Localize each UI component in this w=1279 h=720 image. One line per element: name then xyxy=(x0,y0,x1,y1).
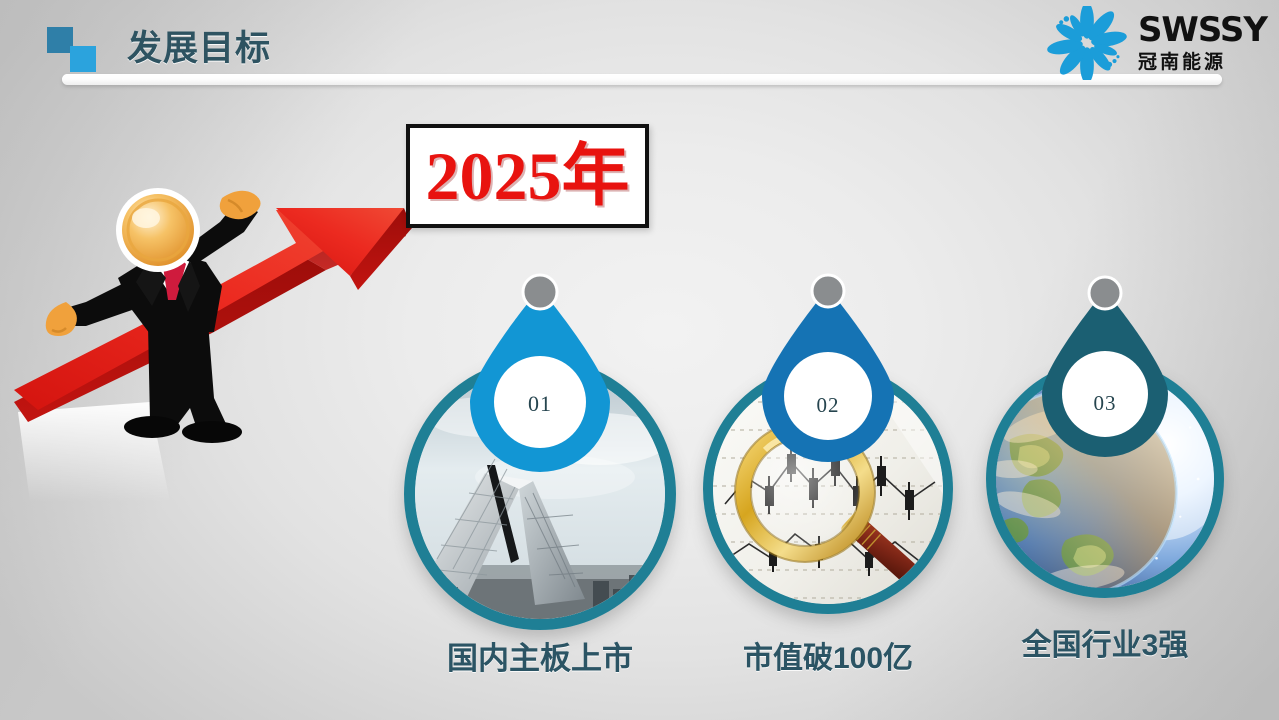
year-badge: 2025年 xyxy=(406,124,649,228)
goal-pin-02 xyxy=(746,276,910,456)
slide-canvas: 发展目标 xyxy=(0,0,1279,720)
goal-caption-02: 市值破100亿 xyxy=(743,633,913,677)
brand-logo: SWSSY 冠南能源 xyxy=(1044,4,1267,80)
goal-number-03: 03 xyxy=(1061,384,1149,422)
goal-caption-03: 全国行业3强 xyxy=(1022,620,1189,664)
goal-item-02[interactable]: 02 市值破100亿 xyxy=(678,266,978,626)
goal-caption-01: 国内主板上市 xyxy=(447,633,633,678)
flower-petals-icon xyxy=(1044,6,1130,78)
goals-group: 01 国内主板上市 xyxy=(0,0,1279,720)
slide-header: 发展目标 xyxy=(0,0,1279,95)
goal-item-03[interactable]: 03 全国行业3强 xyxy=(955,268,1255,628)
goal-pin-01 xyxy=(452,276,628,466)
brand-name-latin: SWSSY xyxy=(1138,13,1267,47)
brand-wordmark: SWSSY 冠南能源 xyxy=(1138,13,1267,72)
page-title: 发展目标 xyxy=(127,20,271,71)
goal-pin-03 xyxy=(1026,278,1184,450)
square-icon-bottom xyxy=(70,46,96,72)
year-badge-text: 2025年 xyxy=(425,142,629,210)
goal-number-02: 02 xyxy=(783,386,873,424)
goal-number-01: 01 xyxy=(494,384,586,424)
goal-item-01[interactable]: 01 国内主板上市 xyxy=(390,258,690,618)
brand-name-chinese: 冠南能源 xyxy=(1138,53,1226,72)
title-decoration xyxy=(47,27,103,72)
